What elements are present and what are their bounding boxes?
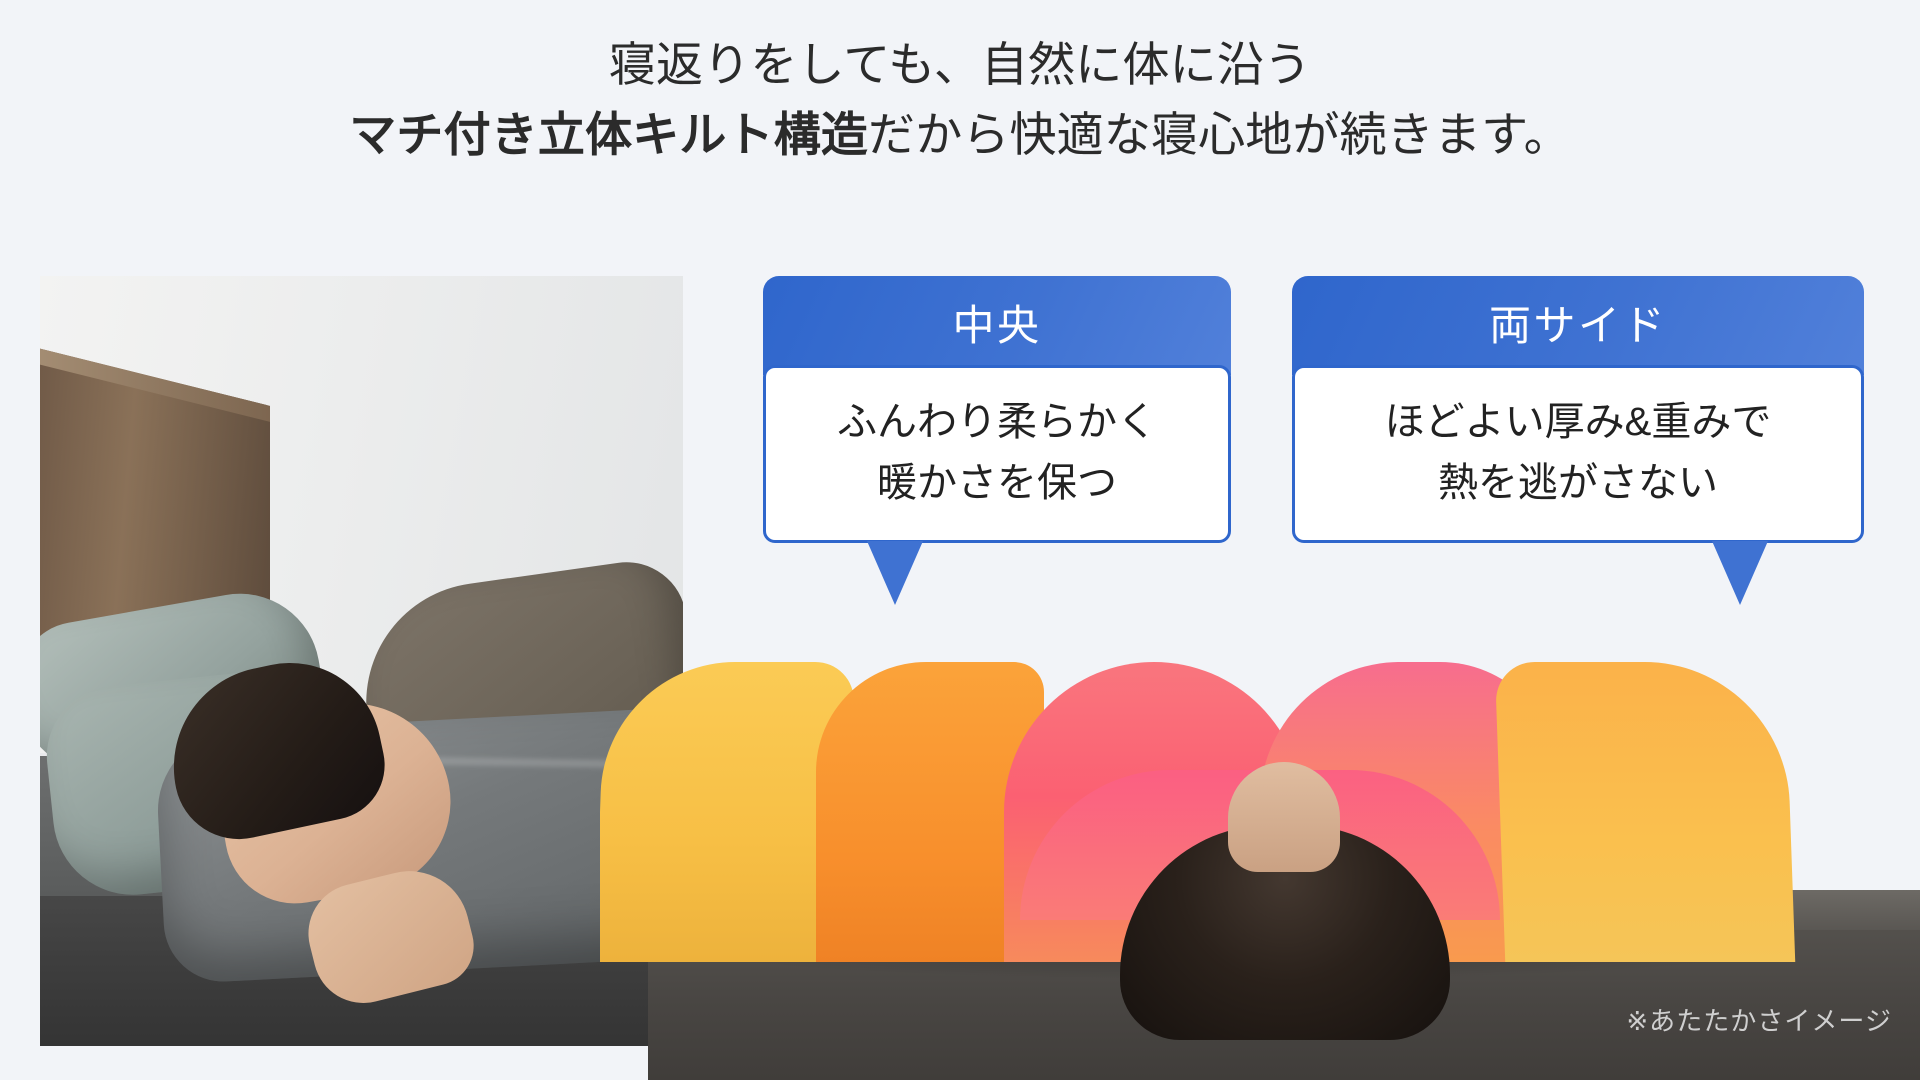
- page-title: 寝返りをしても、自然に体に沿う マチ付き立体キルト構造だから快適な寝心地が続きま…: [0, 34, 1920, 165]
- duvet-heatmap-diagram: ※あたたかさイメージ: [600, 600, 1920, 1080]
- headline-line-1: 寝返りをしても、自然に体に沿う: [0, 34, 1920, 95]
- callout-center: 中央 ふんわり柔らかく 暖かさを保つ: [763, 276, 1231, 543]
- callout-sides-line-2: 熱を逃がさない: [1295, 453, 1861, 514]
- callout-sides: 両サイド ほどよい厚み&重みで 熱を逃がさない: [1292, 276, 1864, 543]
- diagram-caption: ※あたたかさイメージ: [1626, 1001, 1892, 1038]
- headline-line-2: マチ付き立体キルト構造だから快適な寝心地が続きます。: [0, 104, 1920, 165]
- sleeping-person-photo: [40, 276, 683, 1046]
- callout-sides-header: 両サイド: [1292, 276, 1864, 375]
- callout-center-header: 中央: [763, 276, 1231, 375]
- diagram-forehead: [1228, 762, 1340, 872]
- headline-line-2-rest: だから快適な寝心地が続きます。: [868, 108, 1571, 161]
- callout-center-pointer: [867, 541, 923, 605]
- headline-emphasis: マチ付き立体キルト構造: [349, 108, 868, 161]
- diagram-person-head: [1120, 790, 1450, 1040]
- callout-sides-line-1: ほどよい厚み&重みで: [1295, 392, 1861, 453]
- page-root: 寝返りをしても、自然に体に沿う マチ付き立体キルト構造だから快適な寝心地が続きま…: [0, 0, 1920, 1080]
- callout-sides-pointer: [1712, 541, 1768, 605]
- callout-center-body: ふんわり柔らかく 暖かさを保つ: [763, 365, 1231, 543]
- callout-center-line-2: 暖かさを保つ: [766, 453, 1228, 514]
- callout-center-line-1: ふんわり柔らかく: [766, 392, 1228, 453]
- callout-sides-body: ほどよい厚み&重みで 熱を逃がさない: [1292, 365, 1864, 543]
- diagram-zone-right-outer: [1495, 662, 1795, 962]
